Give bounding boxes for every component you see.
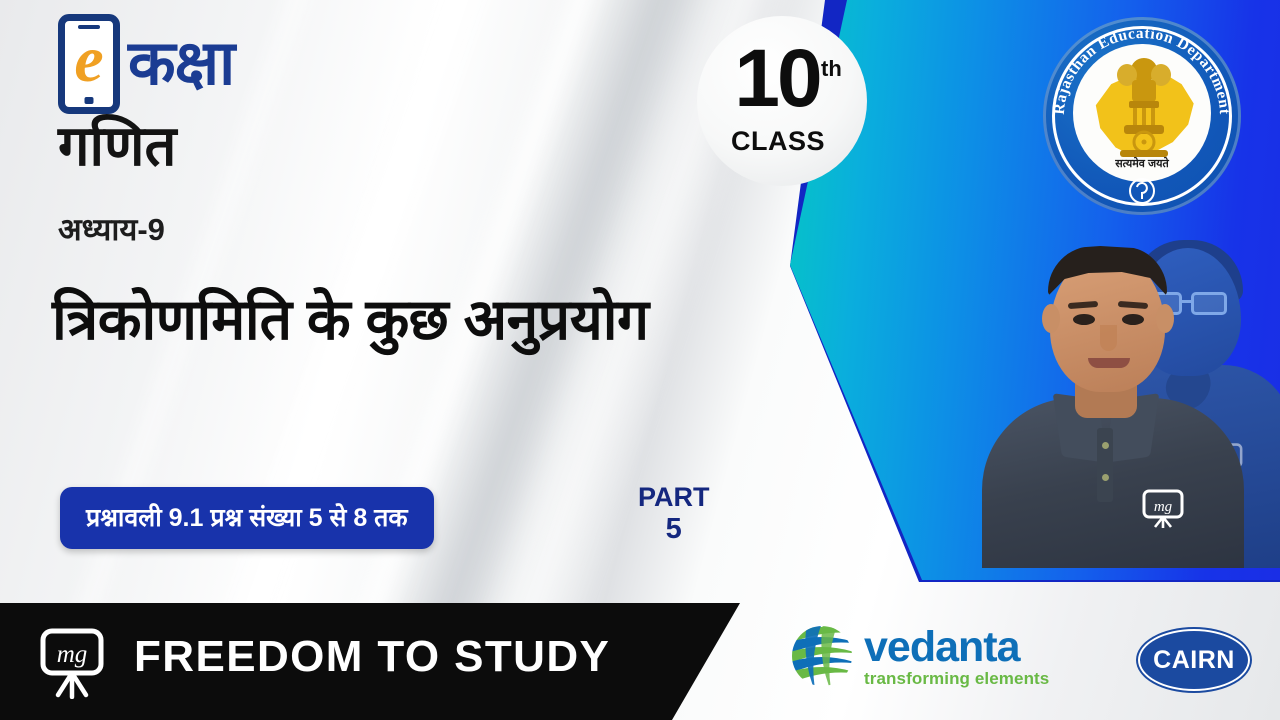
ashoka-lion-capital-icon <box>1116 54 1172 164</box>
exercise-badge: प्रश्नावली 9.1 प्रश्न संख्या 5 से 8 तक <box>60 487 434 549</box>
eye-right <box>1122 314 1144 325</box>
cairn-name: CAIRN <box>1138 629 1250 691</box>
instructor-front-placket <box>1097 428 1113 502</box>
slide-canvas: mg mg Rajasthan Educati <box>0 0 1280 720</box>
nose <box>1100 325 1117 351</box>
class-badge: 10 th CLASS <box>697 16 867 186</box>
shirt-button <box>1102 474 1109 481</box>
sponsor-vedanta: vedanta transforming elements <box>790 624 1049 688</box>
lesson-title: त्रिकोणमिति के कुछ अनुप्रयोग <box>52 288 672 354</box>
subject-title: गणित <box>58 118 176 174</box>
vedanta-name: vedanta <box>864 627 1049 668</box>
shirt-button <box>1102 442 1109 449</box>
svg-text:mg: mg <box>57 641 88 668</box>
ear-right <box>1156 304 1174 333</box>
seal-motto: सत्यमेव जयते <box>1073 156 1211 171</box>
mg-blackboard-icon: mg <box>1140 488 1186 528</box>
svg-text:mg: mg <box>1154 499 1173 515</box>
eyeglasses-icon <box>1191 292 1227 315</box>
part-number: 5 <box>638 513 710 546</box>
smartphone-icon: e <box>58 14 120 114</box>
seal-inner-disc: सत्यमेव जयते <box>1073 44 1211 182</box>
vedanta-tagline: transforming elements <box>864 669 1049 689</box>
sponsor-cairn: CAIRN <box>1138 629 1250 691</box>
mg-blackboard-icon: mg <box>36 623 112 699</box>
eyeglasses-bridge <box>1182 300 1191 303</box>
eye-left <box>1073 314 1095 325</box>
logo-wordmark: कक्षा <box>128 33 234 95</box>
vedanta-globe-icon <box>790 624 854 688</box>
class-superscript: th <box>821 56 842 82</box>
part-label: PART <box>638 482 710 512</box>
ekaksha-logo: e कक्षा <box>58 14 234 114</box>
phone-home-button <box>85 97 94 104</box>
part-indicator: PART 5 <box>638 482 710 546</box>
footer-tagline: FREEDOM TO STUDY <box>134 632 610 682</box>
mouth <box>1088 358 1130 368</box>
vedanta-wordmark: vedanta transforming elements <box>864 627 1049 690</box>
ear-left <box>1042 304 1060 333</box>
seal-bottom-emblem-icon <box>1128 177 1156 205</box>
presenters-photo: mg mg <box>930 230 1280 568</box>
chapter-label: अध्याय-9 <box>58 214 165 245</box>
rajasthan-education-department-seal: Rajasthan Education Department सत्यमेव ज… <box>1043 17 1241 215</box>
logo-letter-e: e <box>65 27 113 93</box>
class-word: CLASS <box>697 126 859 157</box>
